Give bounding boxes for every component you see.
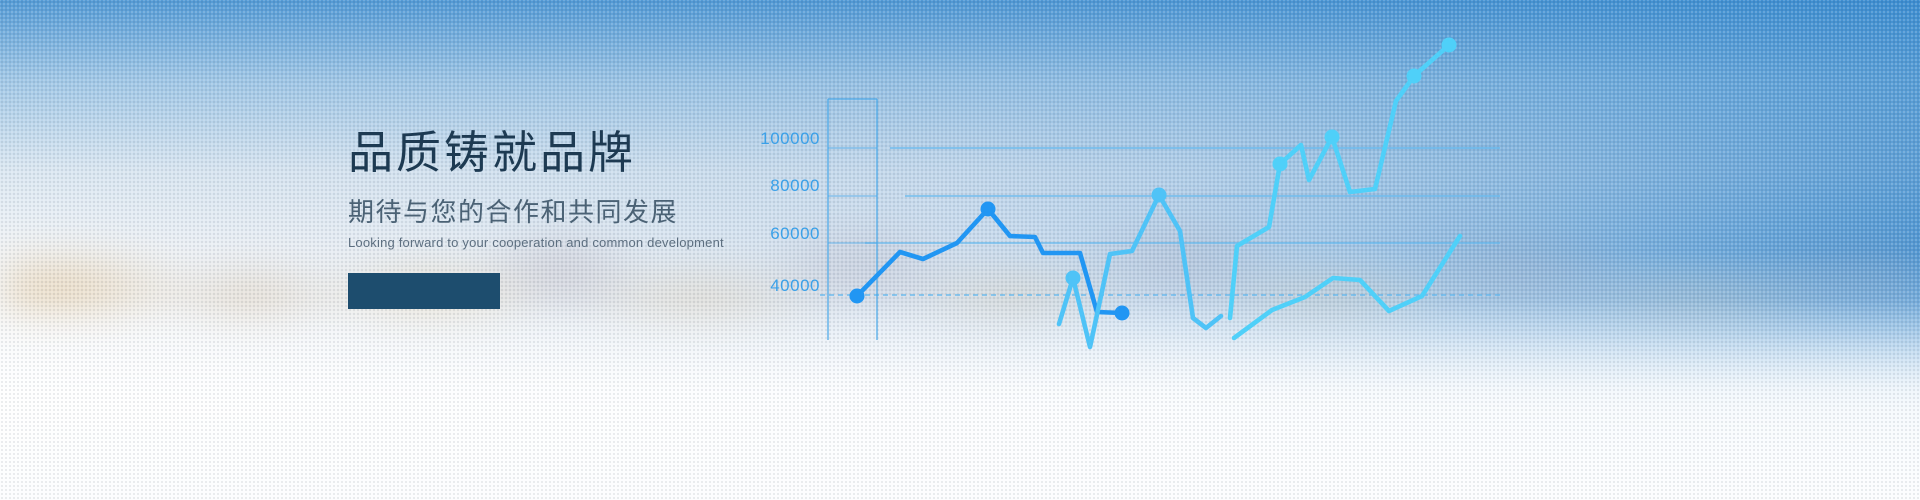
chart-y-axis-labels: 100000 80000 60000 40000 xyxy=(760,129,820,295)
chart-canvas: 100000 80000 60000 40000 xyxy=(760,0,1920,500)
series-1-marker-peak xyxy=(981,202,996,217)
chart-series-1 xyxy=(850,202,1130,321)
series-3-marker-c xyxy=(1407,69,1422,84)
chart-gridlines xyxy=(820,148,1500,295)
series-3-marker-d xyxy=(1442,38,1457,53)
banner-subheadline: 期待与您的合作和共同发展 xyxy=(348,197,768,228)
series-1-marker-end xyxy=(1115,306,1130,321)
ytick-label-60000: 60000 xyxy=(770,224,820,243)
chart-series-4 xyxy=(1234,236,1460,338)
series-3-marker-b xyxy=(1325,130,1340,145)
chart-axis-frame xyxy=(828,99,877,340)
banner-tagline: Looking forward to your cooperation and … xyxy=(348,235,768,250)
series-3-marker-a xyxy=(1273,157,1288,172)
series-1-marker-start xyxy=(850,289,865,304)
series-2-marker-start xyxy=(1066,271,1081,286)
ytick-label-40000: 40000 xyxy=(770,276,820,295)
series-1-line xyxy=(857,209,1122,313)
ytick-label-80000: 80000 xyxy=(770,176,820,195)
ytick-label-100000: 100000 xyxy=(760,129,820,148)
banner-headline: 品质铸就品牌 xyxy=(348,126,768,179)
series-4-line xyxy=(1234,236,1460,338)
banner-text-block: 品质铸就品牌 期待与您的合作和共同发展 Looking forward to y… xyxy=(348,126,768,309)
cta-button[interactable] xyxy=(348,273,500,309)
series-2-marker-peak xyxy=(1152,188,1167,203)
promo-banner: 品质铸就品牌 期待与您的合作和共同发展 Looking forward to y… xyxy=(0,0,1920,500)
line-chart: 100000 80000 60000 40000 xyxy=(760,0,1920,500)
chart-series-3 xyxy=(1230,38,1457,319)
